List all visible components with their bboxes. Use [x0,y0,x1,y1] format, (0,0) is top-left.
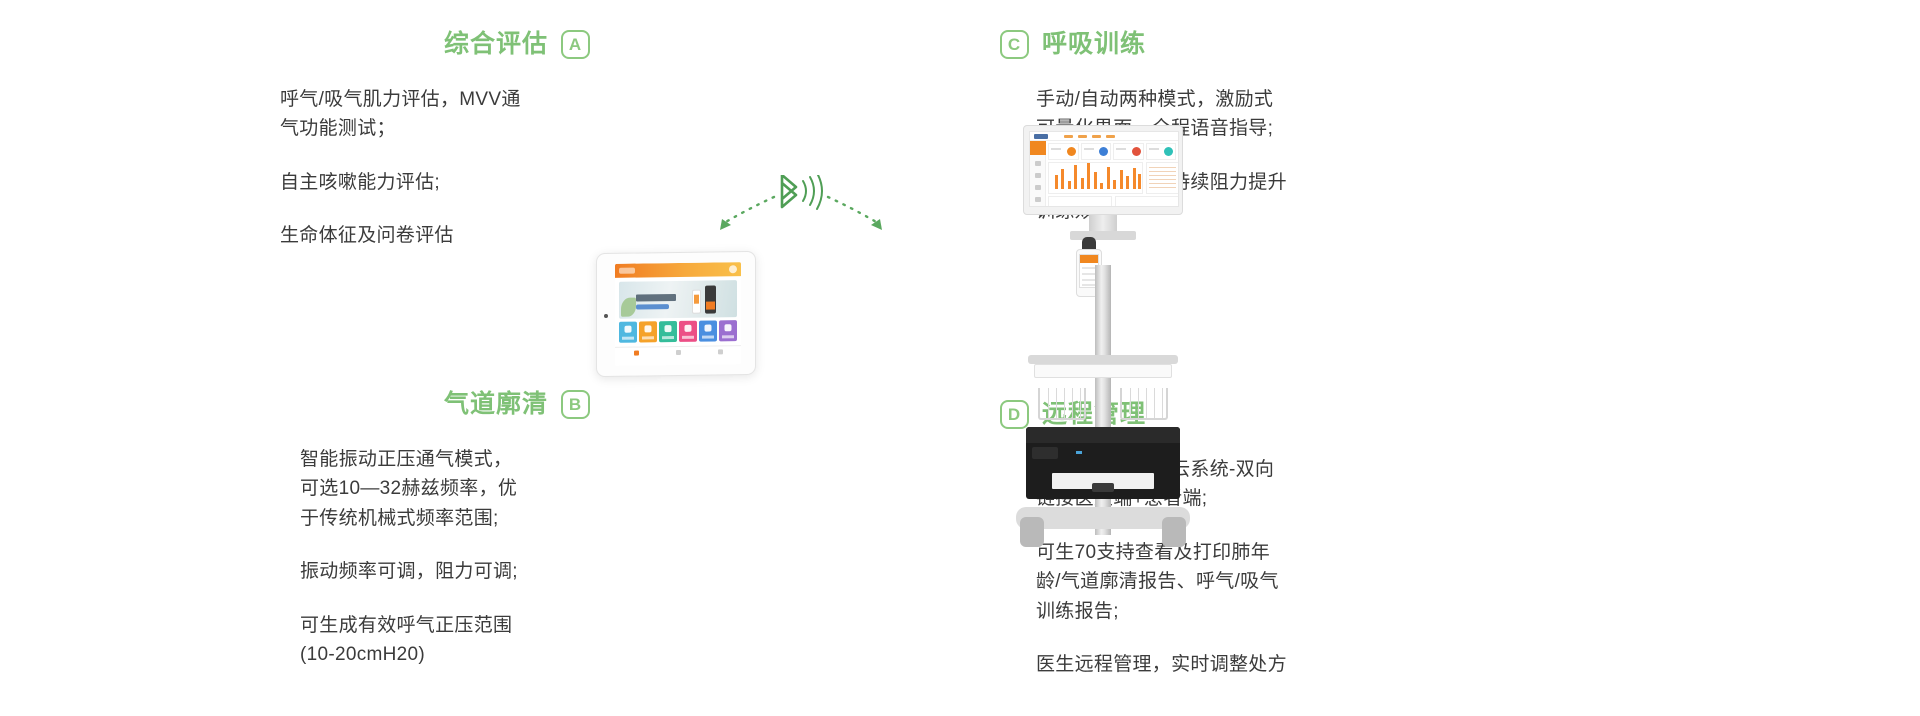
printer-control-panel[interactable] [1032,447,1058,459]
dashboard-bar-chart [1048,162,1143,194]
section-c-badge: C [1000,30,1029,59]
section-b-header: 气道廓清 B [290,390,590,419]
bluetooth-connection-graphic [700,175,900,245]
dashboard-panel-right [1115,196,1179,207]
cart-basket-left [1038,388,1086,420]
nav-item-4[interactable] [1106,135,1115,138]
section-b-paragraph-3: 可生成有效呼气正压范围 (10-20cmH20) [290,611,590,670]
product-feature-diagram: 综合评估 A 呼气/吸气肌力评估，MVV通 气功能测试； 自主咳嗽能力评估; 生… [0,0,1920,716]
nav-item-2[interactable] [1078,135,1087,138]
section-b-title: 气道廓清 [444,392,548,417]
monitor-neck [1089,215,1117,231]
section-d-paragraph-3: 医生远程管理，实时调整处方 [1000,650,1340,679]
printer-lid [1026,427,1180,443]
section-a-badge: A [561,30,590,59]
app-tile-lung[interactable] [619,322,637,343]
tablet-logo-icon [619,268,635,274]
nav-item-3[interactable] [1092,135,1101,138]
dashboard-panel-left [1048,196,1112,207]
cart-basket-right [1120,388,1168,420]
section-c-header: C 呼吸训练 [1000,30,1330,59]
app-tile-report[interactable] [659,321,677,342]
section-b-badge: B [561,390,590,419]
sidebar-item-1[interactable] [1035,161,1041,166]
dashboard-list-panel [1146,162,1179,194]
medical-cart [1010,125,1195,545]
dashboard-sidebar [1030,141,1046,207]
tab-records-icon[interactable] [676,349,681,354]
cart-worksurface [1028,355,1178,364]
section-d-paragraph-2: 可生70支持查看及打印肺年 龄/气道廓清报告、呼气/吸气 训练报告; [1000,538,1340,626]
app-tile-user[interactable] [719,320,737,341]
home-icon [729,265,737,273]
sidebar-item-4[interactable] [1035,197,1041,202]
banner-headline [636,294,676,302]
section-a-paragraph-2: 自主咳嗽能力评估; [280,168,590,197]
app-tile-calendar[interactable] [679,321,697,342]
kpi-card-2 [1081,143,1112,160]
app-tile-heart[interactable] [639,321,657,342]
banner-button [636,304,669,309]
section-c-title: 呼吸训练 [1042,32,1146,57]
printer-status-led-icon [1076,451,1082,454]
bluetooth-icon [700,175,900,245]
banner-phone-icon [692,290,701,314]
section-a-header: 综合评估 A [280,30,590,59]
tablet-device [596,251,756,377]
monitor-screen [1029,131,1179,207]
tablet-tabbar [615,345,741,358]
cart-keyboard-tray [1034,364,1172,378]
nav-item-1[interactable] [1064,135,1073,138]
section-a: 综合评估 A 呼气/吸气肌力评估，MVV通 气功能测试； 自主咳嗽能力评估; 生… [280,30,590,251]
kpi-card-3 [1113,143,1144,160]
cart-wheel-left [1020,517,1044,547]
tab-home-icon[interactable] [634,350,639,355]
kpi-card-4 [1146,143,1177,160]
monitor-display [1023,125,1183,215]
tablet-app-topbar [615,262,741,278]
app-tile-clipboard[interactable] [699,320,717,341]
section-b-paragraph-1: 智能振动正压通气模式， 可选10—32赫兹频率，优 于传统机械式频率范围; [290,445,590,533]
tab-profile-icon[interactable] [718,349,723,354]
tablet-screen [615,262,741,366]
dashboard-logo-icon [1034,134,1048,139]
cart-wheel-right [1162,517,1186,547]
kpi-card-1 [1048,143,1079,160]
dashboard-kpi-row [1048,143,1176,160]
sidebar-item-3[interactable] [1035,185,1041,190]
tablet-app-tiles [615,320,741,343]
banner-device-icon [705,285,716,313]
sidebar-item-active[interactable] [1030,141,1046,155]
dashboard-topbar [1030,132,1178,141]
section-b: 气道廓清 B 智能振动正压通气模式， 可选10—32赫兹频率，优 于传统机械式频… [290,390,590,670]
printer-tray-handle[interactable] [1092,483,1114,492]
sidebar-item-2[interactable] [1035,173,1041,178]
leaf-decor-icon [621,298,636,317]
section-b-paragraph-2: 振动频率可调，阻力可调; [290,557,590,586]
section-a-paragraph-3: 生命体征及问卷评估 [280,221,590,250]
section-a-title: 综合评估 [444,32,548,57]
tablet-banner [619,280,737,319]
section-a-paragraph-1: 呼气/吸气肌力评估，MVV通 气功能测试； [280,85,590,144]
tablet-camera-icon [604,314,608,318]
printer [1026,427,1180,499]
